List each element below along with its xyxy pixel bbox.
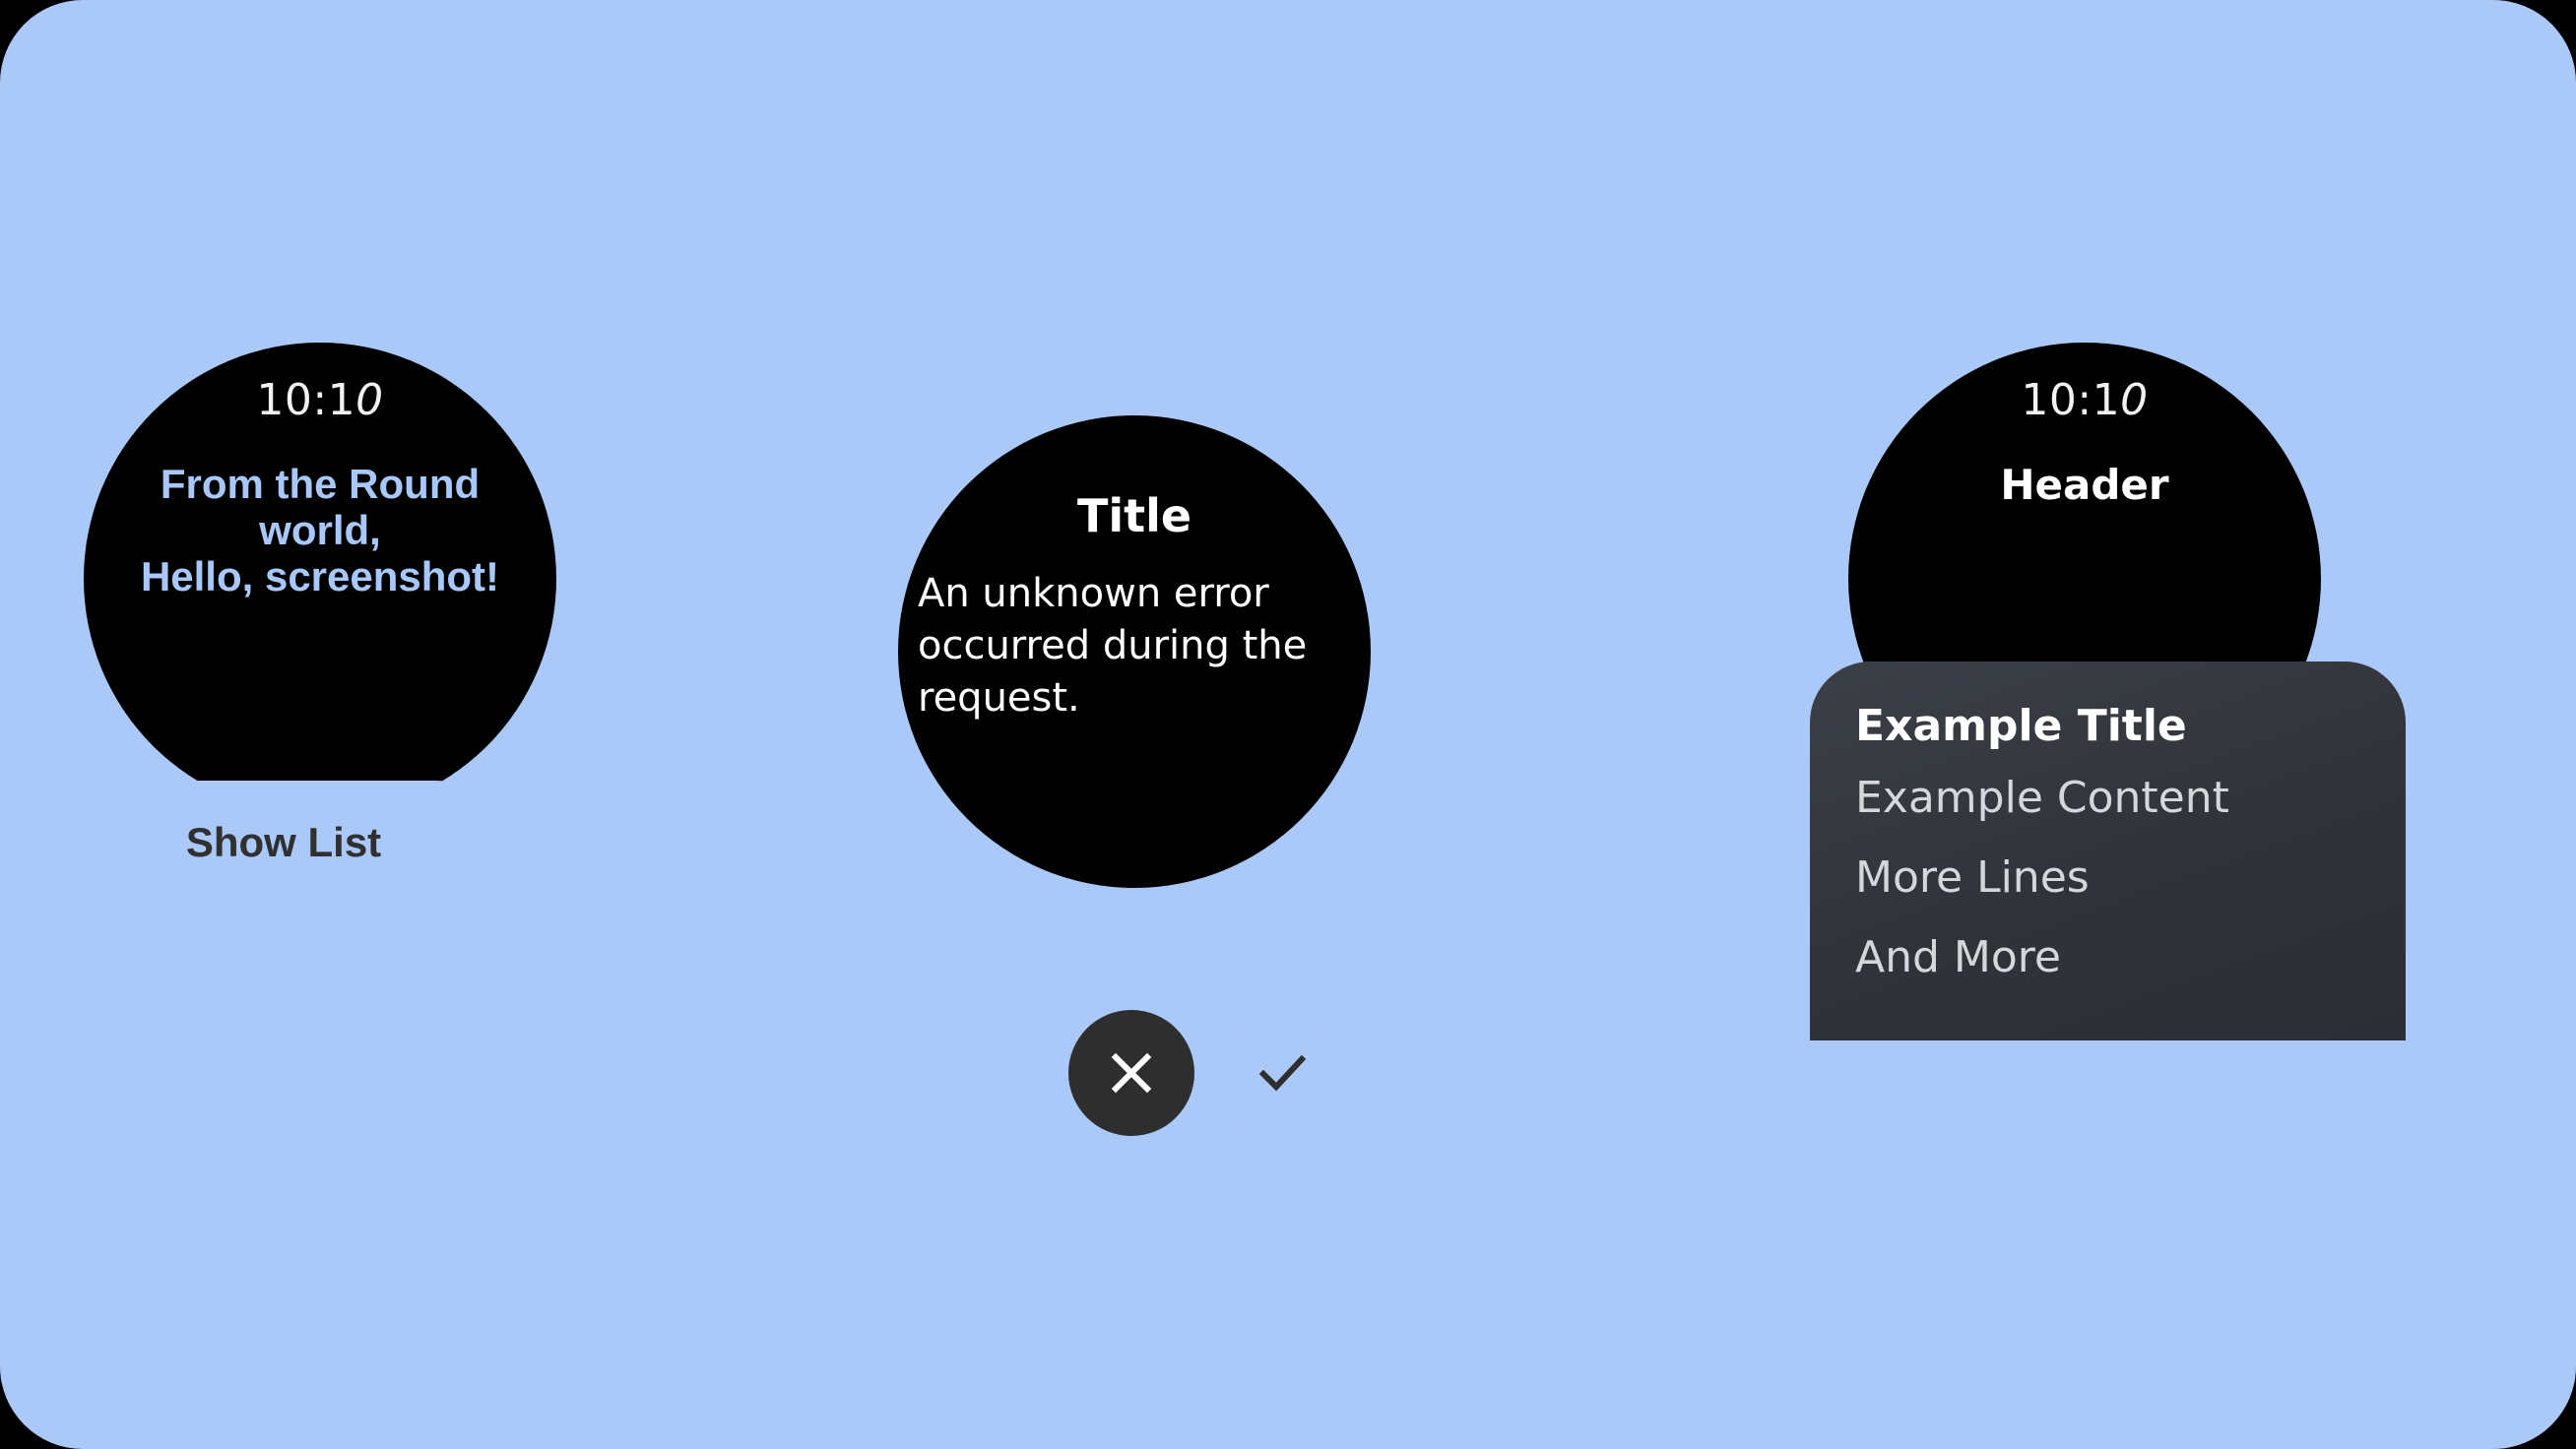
watch-face-hello-world: 10:10 From the Round world, Hello, scree… — [84, 343, 556, 815]
status-bar-time: 10:10 — [1848, 375, 2321, 425]
list-header: Header — [1848, 461, 2321, 509]
check-icon — [1248, 1039, 1317, 1107]
screenshot-frame: 10:10 From the Round world, Hello, scree… — [0, 0, 2576, 1449]
status-bar-time: 10:10 — [84, 375, 556, 425]
list-item-title: Example Title — [1855, 701, 2187, 751]
show-list-button[interactable]: Show List — [71, 781, 496, 904]
dialog-title: Title — [898, 489, 1371, 542]
list-item: Example Content — [1855, 773, 2229, 823]
close-icon — [1100, 1041, 1163, 1104]
status-bar-time-head: 10:1 — [256, 375, 355, 425]
dismiss-button[interactable] — [1068, 1010, 1194, 1136]
status-bar-time-tail: 0 — [2120, 375, 2149, 425]
greeting-text: From the Round world, Hello, screenshot! — [107, 461, 533, 599]
show-list-button-label: Show List — [186, 819, 381, 866]
status-bar-time-tail: 0 — [355, 375, 384, 425]
confirm-button[interactable] — [1219, 1010, 1345, 1136]
list-card[interactable]: Example Title Example Content More Lines… — [1810, 661, 2406, 1040]
dialog-message: An unknown error occurred during the req… — [918, 568, 1351, 725]
status-bar-time-head: 10:1 — [2021, 375, 2120, 425]
list-item: And More — [1855, 932, 2061, 982]
watch-face-error-dialog: Title An unknown error occurred during t… — [898, 415, 1371, 888]
list-item: More Lines — [1855, 852, 2090, 903]
